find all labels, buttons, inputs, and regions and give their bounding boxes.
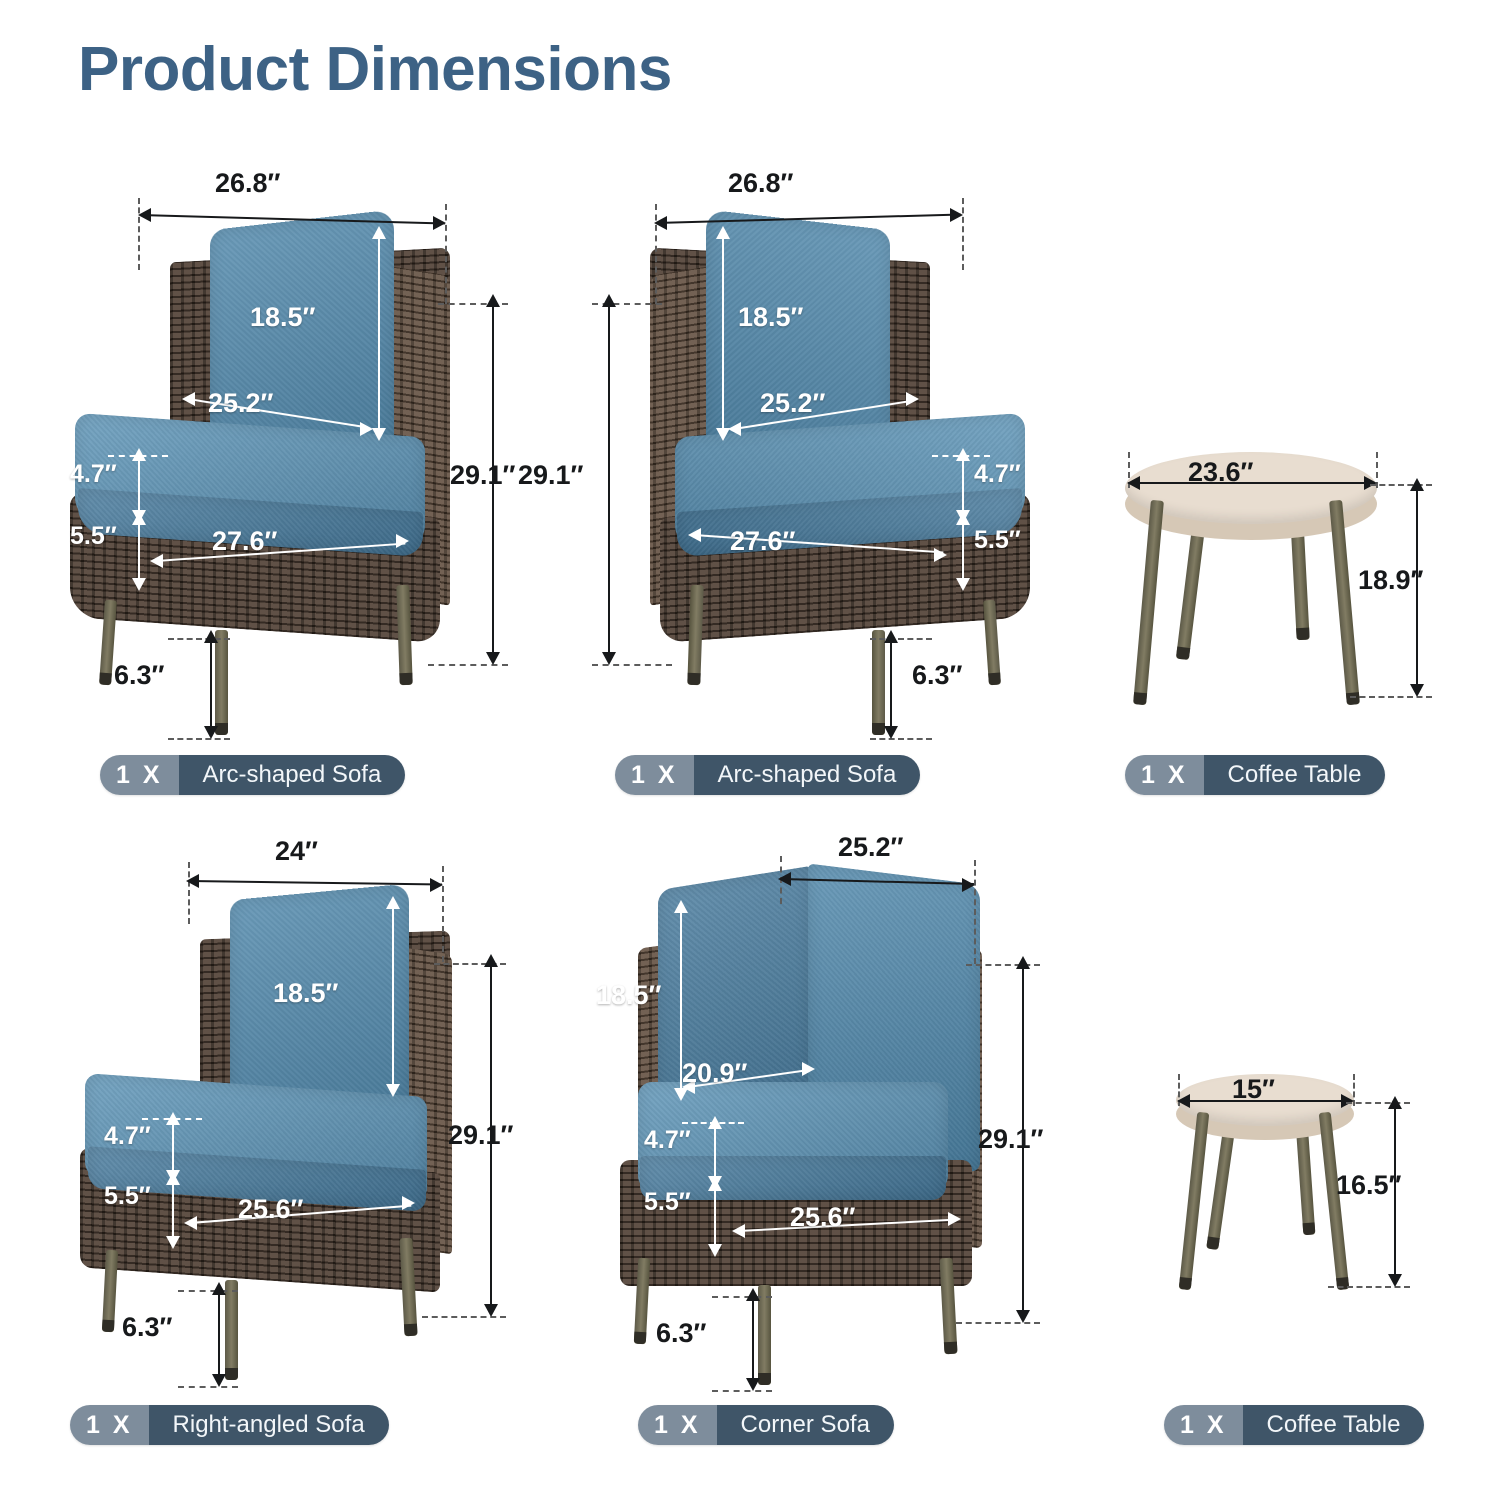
panel-corner-sofa: 25.2″ 18.5″ 20.9″ 4.7″ (570, 830, 1060, 1510)
dim-label-seat-cushion-thickness: 4.7″ (974, 460, 1021, 489)
badge-coffee-table-small[interactable]: 1 X Coffee Table (1164, 1405, 1424, 1445)
arrowhead-down (746, 1378, 760, 1391)
dim-label-overall-width: 24″ (275, 836, 318, 867)
arrowhead-down (1016, 1310, 1030, 1323)
dim-label-leg-height: 6.3″ (114, 660, 164, 691)
ext-line-top (712, 1296, 772, 1298)
arrowhead-up (486, 294, 500, 307)
dim-label-overall-height: 29.1″ (450, 460, 515, 491)
badge-quantity: 1 X (615, 755, 694, 795)
arrowhead-up (746, 1288, 760, 1301)
dim-arrow-line (722, 238, 724, 430)
arrowhead-right (934, 548, 947, 562)
arrowhead-left (1127, 476, 1140, 490)
arrowhead-down (484, 1304, 498, 1317)
arrowhead-up (386, 896, 400, 909)
dim-label-frame-rail-height: 5.5″ (104, 1182, 151, 1211)
badge-product-name: Corner Sofa (717, 1405, 894, 1445)
panel-arc-sofa-right: 26.8″ 18.5″ 25.2″ 4.7″ 5.5″ (570, 160, 1040, 860)
arrowhead-up (708, 1178, 722, 1191)
badge-arc-sofa-left[interactable]: 1 X Arc-shaped Sofa (100, 755, 405, 795)
dim-arrow-line (392, 908, 394, 1086)
dim-label-back-cushion-height: 18.5″ (738, 302, 803, 333)
dim-label-overall-width: 25.2″ (838, 832, 903, 863)
arrowhead-up (716, 226, 730, 239)
arrowhead-left (732, 1224, 745, 1238)
sofa-leg-front-center (225, 1280, 238, 1380)
dim-arrow-line (890, 642, 892, 736)
dim-arrow-line (962, 458, 964, 514)
panel-right-angled-sofa: 24″ 18.5″ 4.7″ 5.5″ 2 (60, 830, 530, 1510)
dim-label-frame-rail-height: 5.5″ (70, 522, 117, 551)
arrowhead-down (884, 726, 898, 739)
arrowhead-down (1388, 1274, 1402, 1287)
arrowhead-down (602, 652, 616, 665)
coffee-table-small-illustration (1080, 830, 1500, 1410)
dim-label-frame-rail-height: 5.5″ (974, 526, 1021, 555)
badge-quantity: 1 X (638, 1405, 717, 1445)
arrowhead-up (166, 1112, 180, 1125)
badge-product-name: Arc-shaped Sofa (179, 755, 406, 795)
arrowhead-right (360, 422, 373, 436)
arrowhead-up (884, 630, 898, 643)
arrowhead-left (688, 528, 701, 542)
dim-label-seat-cushion-thickness: 4.7″ (70, 460, 117, 489)
ext-line-bottom (870, 738, 932, 740)
badge-quantity: 1 X (100, 755, 179, 795)
dim-arrow-line (378, 238, 380, 430)
ext-line-right (974, 860, 976, 964)
dim-label-leg-height: 6.3″ (656, 1318, 706, 1349)
badge-product-name: Right-angled Sofa (149, 1405, 389, 1445)
badge-coffee-table-large[interactable]: 1 X Coffee Table (1125, 755, 1385, 795)
dim-label-leg-height: 6.3″ (122, 1312, 172, 1343)
arrowhead-up (708, 1116, 722, 1129)
ext-line-bottom (178, 1386, 238, 1388)
ext-line-bottom (168, 738, 230, 740)
arrowhead-up (166, 1172, 180, 1185)
arrowhead-up (956, 448, 970, 461)
dim-label-leg-height: 6.3″ (912, 660, 962, 691)
dim-label-base-width: 25.6″ (238, 1194, 303, 1225)
arrowhead-right (430, 878, 443, 892)
arrowhead-right (402, 1196, 415, 1210)
arrowhead-up (132, 512, 146, 525)
arrowhead-left (186, 874, 199, 888)
dim-arrow-line (172, 1180, 174, 1240)
arrowhead-up (674, 900, 688, 913)
dim-label-overall-width: 26.8″ (728, 168, 793, 199)
badge-product-name: Coffee Table (1204, 755, 1386, 795)
dim-label-back-cushion-height: 18.5″ (273, 978, 338, 1009)
table-leg-front-left (1133, 500, 1164, 705)
arrowhead-up (1388, 1096, 1402, 1109)
dim-label-seat-depth: 25.2″ (208, 388, 273, 419)
dim-label-seat-depth: 25.2″ (760, 388, 825, 419)
arrowhead-left (1177, 1094, 1190, 1108)
dim-arrow-line (218, 1294, 220, 1384)
arrowhead-down (372, 428, 386, 441)
badge-arc-sofa-right[interactable]: 1 X Arc-shaped Sofa (615, 755, 920, 795)
arrowhead-down (212, 1374, 226, 1387)
arrowhead-left (728, 422, 741, 436)
ext-line-bottom (712, 1390, 772, 1392)
arrowhead-right (1341, 1094, 1354, 1108)
ext-line-top (870, 638, 932, 640)
arrowhead-right (962, 878, 975, 892)
ext-line-top (168, 638, 230, 640)
arrowhead-right (1364, 476, 1377, 490)
arrowhead-left (778, 872, 791, 886)
arrowhead-up (956, 512, 970, 525)
badge-product-name: Coffee Table (1243, 1405, 1425, 1445)
dim-arrow-line (714, 1126, 716, 1180)
dim-arrow-line (172, 1122, 174, 1174)
panel-arc-sofa-left: 26.8″ 18.5″ 25.2″ 4.7″ (60, 160, 530, 860)
dim-label-seat-depth: 20.9″ (682, 1058, 747, 1089)
dim-label-overall-height: 29.1″ (978, 1124, 1043, 1155)
dim-arrow-line (138, 520, 140, 582)
arrowhead-down (204, 726, 218, 739)
panel-coffee-table-small: 15″ 16.5″ 1 X Coffee Table (1080, 830, 1500, 1510)
arrowhead-left (184, 1216, 197, 1230)
arrowhead-left (182, 392, 195, 406)
dim-label-back-cushion-height: 18.5″ (250, 302, 315, 333)
arrowhead-down (166, 1236, 180, 1249)
arrowhead-down (1410, 684, 1424, 697)
badge-corner-sofa[interactable]: 1 X Corner Sofa (638, 1405, 894, 1445)
dim-label-frame-rail-height: 5.5″ (644, 1188, 691, 1217)
arrowhead-up (372, 226, 386, 239)
dim-label-base-width: 27.6″ (212, 526, 277, 557)
arrowhead-right (950, 208, 963, 222)
panel-coffee-table-large: 23.6″ 18.9″ 1 X Coffee Table (1070, 160, 1490, 860)
table-leg-front-right (1319, 1112, 1350, 1290)
arrowhead-down (956, 578, 970, 591)
page-title: Product Dimensions (78, 34, 672, 105)
arrowhead-right (396, 534, 409, 548)
arrowhead-up (602, 294, 616, 307)
dim-label-overall-height: 29.1″ (518, 460, 583, 491)
dim-label-seat-cushion-thickness: 4.7″ (104, 1122, 151, 1151)
table-leg-front-right (1329, 500, 1360, 705)
dim-label-base-width: 25.6″ (790, 1202, 855, 1233)
badge-product-name: Arc-shaped Sofa (694, 755, 921, 795)
arrowhead-up (1410, 478, 1424, 491)
arrowhead-right (433, 216, 446, 230)
arrowhead-down (386, 1084, 400, 1097)
badge-quantity: 1 X (70, 1405, 149, 1445)
dim-arrow-line (752, 1300, 754, 1388)
dim-label-top-diameter: 23.6″ (1188, 457, 1253, 488)
arrowhead-down (708, 1244, 722, 1257)
arrowhead-right (802, 1062, 815, 1076)
badge-right-angled-sofa[interactable]: 1 X Right-angled Sofa (70, 1405, 389, 1445)
dim-arrow-line (608, 306, 610, 662)
arrowhead-right (948, 1212, 961, 1226)
dim-label-overall-height: 29.1″ (448, 1120, 513, 1151)
arrowhead-up (212, 1282, 226, 1295)
dim-arrow-line (210, 642, 212, 736)
dim-label-overall-width: 26.8″ (215, 168, 280, 199)
dim-label-back-cushion-height: 18.5″ (596, 980, 661, 1011)
arrowhead-left (654, 216, 667, 230)
sofa-leg-front-center (872, 630, 885, 735)
arrowhead-up (484, 954, 498, 967)
arrowhead-left (150, 554, 163, 568)
arrowhead-left (138, 208, 151, 222)
arrowhead-up (204, 630, 218, 643)
dim-label-overall-height: 18.9″ (1358, 565, 1423, 596)
ext-line-left (188, 862, 190, 924)
coffee-table-large-illustration (1070, 160, 1490, 760)
sofa-leg-front-center (215, 630, 228, 735)
badge-quantity: 1 X (1125, 755, 1204, 795)
arrowhead-up (1016, 956, 1030, 969)
table-leg-front-left (1179, 1112, 1210, 1290)
arrowhead-up (132, 448, 146, 461)
dim-label-base-width: 27.6″ (730, 526, 795, 557)
product-panel-grid: 26.8″ 18.5″ 25.2″ 4.7″ (0, 140, 1500, 1500)
sofa-leg-left (687, 585, 703, 685)
dim-label-top-diameter: 15″ (1232, 1074, 1275, 1105)
arrowhead-down (132, 578, 146, 591)
dim-label-seat-cushion-thickness: 4.7″ (644, 1126, 691, 1155)
dim-label-overall-height: 16.5″ (1336, 1170, 1401, 1201)
dim-arrow-line (714, 1186, 716, 1248)
dim-arrow-line (138, 458, 140, 514)
dim-arrow-line (962, 520, 964, 582)
badge-quantity: 1 X (1164, 1405, 1243, 1445)
arrowhead-down (486, 652, 500, 665)
arrowhead-right (906, 392, 919, 406)
ext-line-top (178, 1290, 238, 1292)
